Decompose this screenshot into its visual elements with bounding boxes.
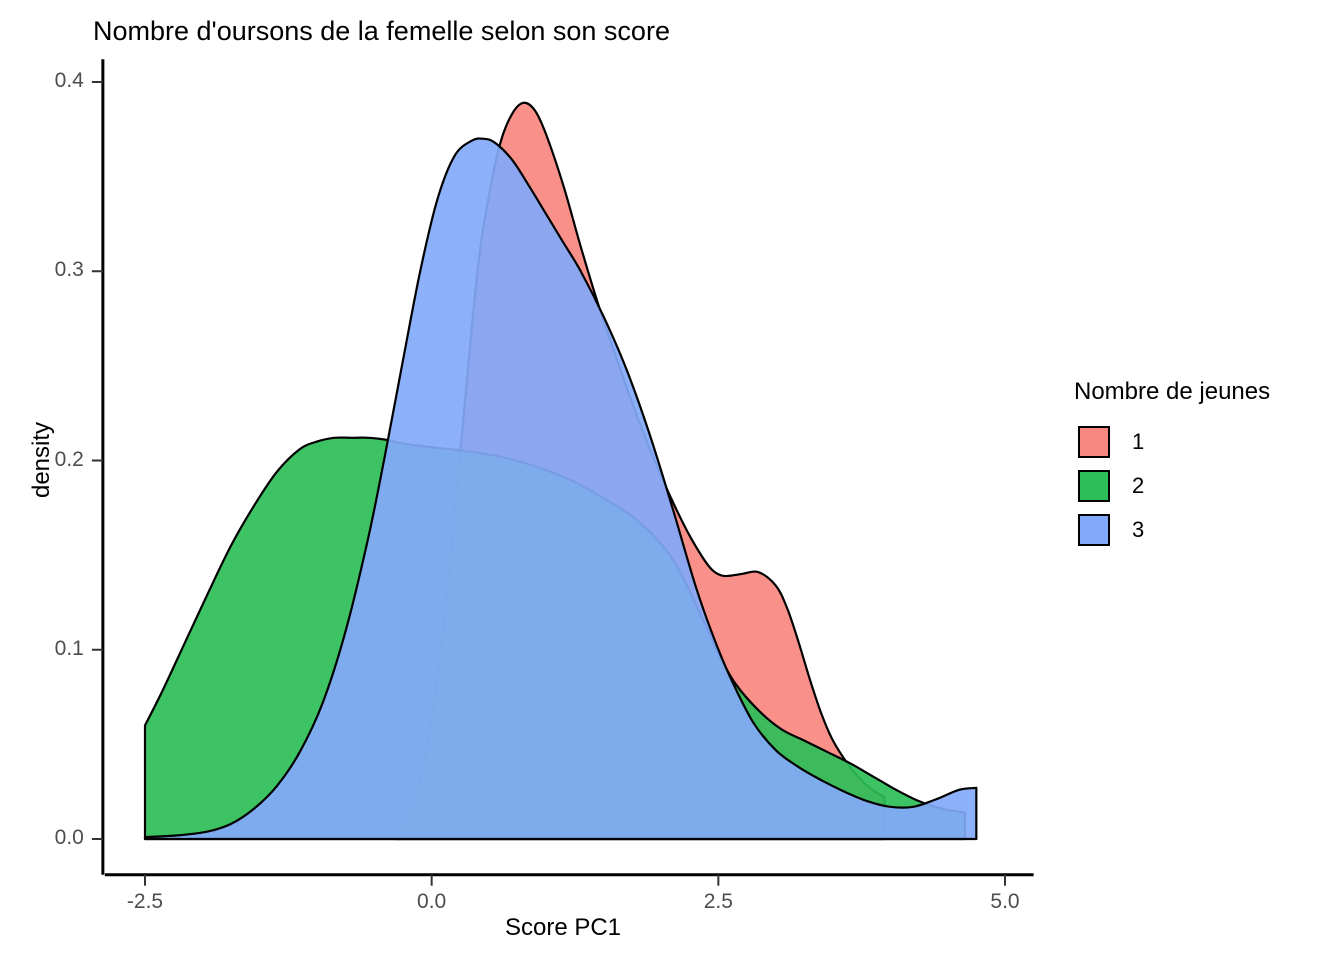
x-tick-label: 2.5	[678, 890, 758, 914]
legend-item-2[interactable]: 2	[1072, 464, 1332, 508]
y-tick-label: 0.4	[24, 69, 84, 93]
y-tick-label: 0.3	[24, 258, 84, 282]
legend-swatch-icon	[1078, 514, 1110, 546]
legend-item-label: 2	[1132, 473, 1144, 499]
legend-swatch-icon	[1078, 426, 1110, 458]
x-tick-label: 0.0	[392, 890, 472, 914]
y-tick-label: 0.0	[24, 826, 84, 850]
legend-entries: 123	[1072, 420, 1332, 552]
density-plot-figure: Nombre d'oursons de la femelle selon son…	[0, 0, 1344, 960]
x-tick-label: 5.0	[965, 890, 1045, 914]
legend-item-label: 3	[1132, 517, 1144, 543]
legend-item-1[interactable]: 1	[1072, 420, 1332, 464]
legend-swatch-icon	[1078, 470, 1110, 502]
y-tick-label: 0.1	[24, 637, 84, 661]
density-areas	[145, 103, 976, 839]
legend-item-label: 1	[1132, 429, 1144, 455]
legend-item-3[interactable]: 3	[1072, 508, 1332, 552]
legend: Nombre de jeunes 123	[1072, 378, 1332, 552]
legend-title: Nombre de jeunes	[1074, 378, 1332, 406]
x-axis-title: Score PC1	[93, 914, 1033, 942]
y-tick-label: 0.2	[24, 448, 84, 472]
x-tick-label: -2.5	[105, 890, 185, 914]
